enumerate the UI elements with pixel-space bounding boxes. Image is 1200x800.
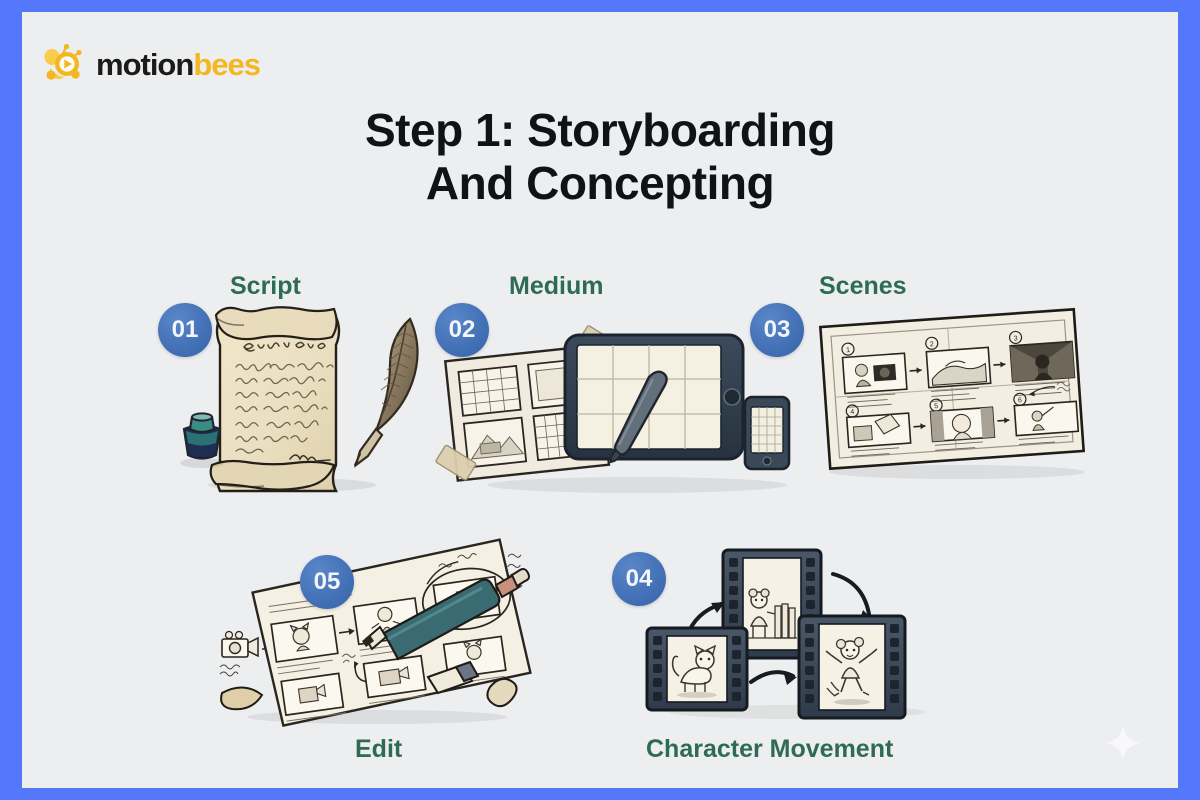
step-badge-05[interactable]: 05 [300, 555, 354, 609]
illustration-edit [212, 547, 552, 727]
illustration-medium [437, 317, 797, 497]
step-label-edit: Edit [355, 735, 402, 764]
step-label-scenes: Scenes [819, 272, 907, 301]
film-frame-jumping-girl [799, 616, 905, 718]
page-title-line-1: Step 1: Storyboarding [22, 104, 1178, 157]
svg-text:5: 5 [934, 403, 938, 410]
svg-text:3: 3 [1013, 335, 1017, 342]
svg-text:4: 4 [850, 409, 854, 416]
inkwell-icon [180, 413, 224, 468]
film-frame-cat [647, 628, 747, 710]
brand-name-primary: motion [96, 47, 193, 82]
phone-icon [745, 397, 789, 469]
step-label-character-movement: Character Movement [646, 735, 893, 764]
illustration-character-movement [647, 532, 947, 722]
quill-pen-icon [355, 319, 418, 465]
step-label-medium: Medium [509, 272, 603, 301]
step-badge-04[interactable]: 04 [612, 552, 666, 606]
brand-name-secondary: bees [193, 47, 260, 82]
infographic-canvas: motionbees Step 1: Storyboarding And Con… [22, 12, 1178, 788]
page-title: Step 1: Storyboarding And Concepting [22, 104, 1178, 210]
eraser-icon-1 [221, 687, 262, 709]
eraser-icon-3 [487, 679, 516, 706]
svg-text:1: 1 [846, 347, 850, 354]
svg-text:6: 6 [1018, 397, 1022, 404]
bee-play-icon [42, 44, 88, 84]
svg-text:2: 2 [930, 341, 934, 348]
step-badge-01[interactable]: 01 [158, 303, 212, 357]
step-badge-02[interactable]: 02 [435, 303, 489, 357]
brand-wordmark: motionbees [96, 49, 260, 80]
four-point-star-icon [1106, 726, 1140, 760]
infographic-root: motionbees Step 1: Storyboarding And Con… [0, 0, 1200, 800]
brand-logo[interactable]: motionbees [42, 44, 260, 84]
step-badge-03[interactable]: 03 [750, 303, 804, 357]
page-title-line-2: And Concepting [22, 157, 1178, 210]
illustration-scenes: 1 2 [807, 304, 1097, 484]
